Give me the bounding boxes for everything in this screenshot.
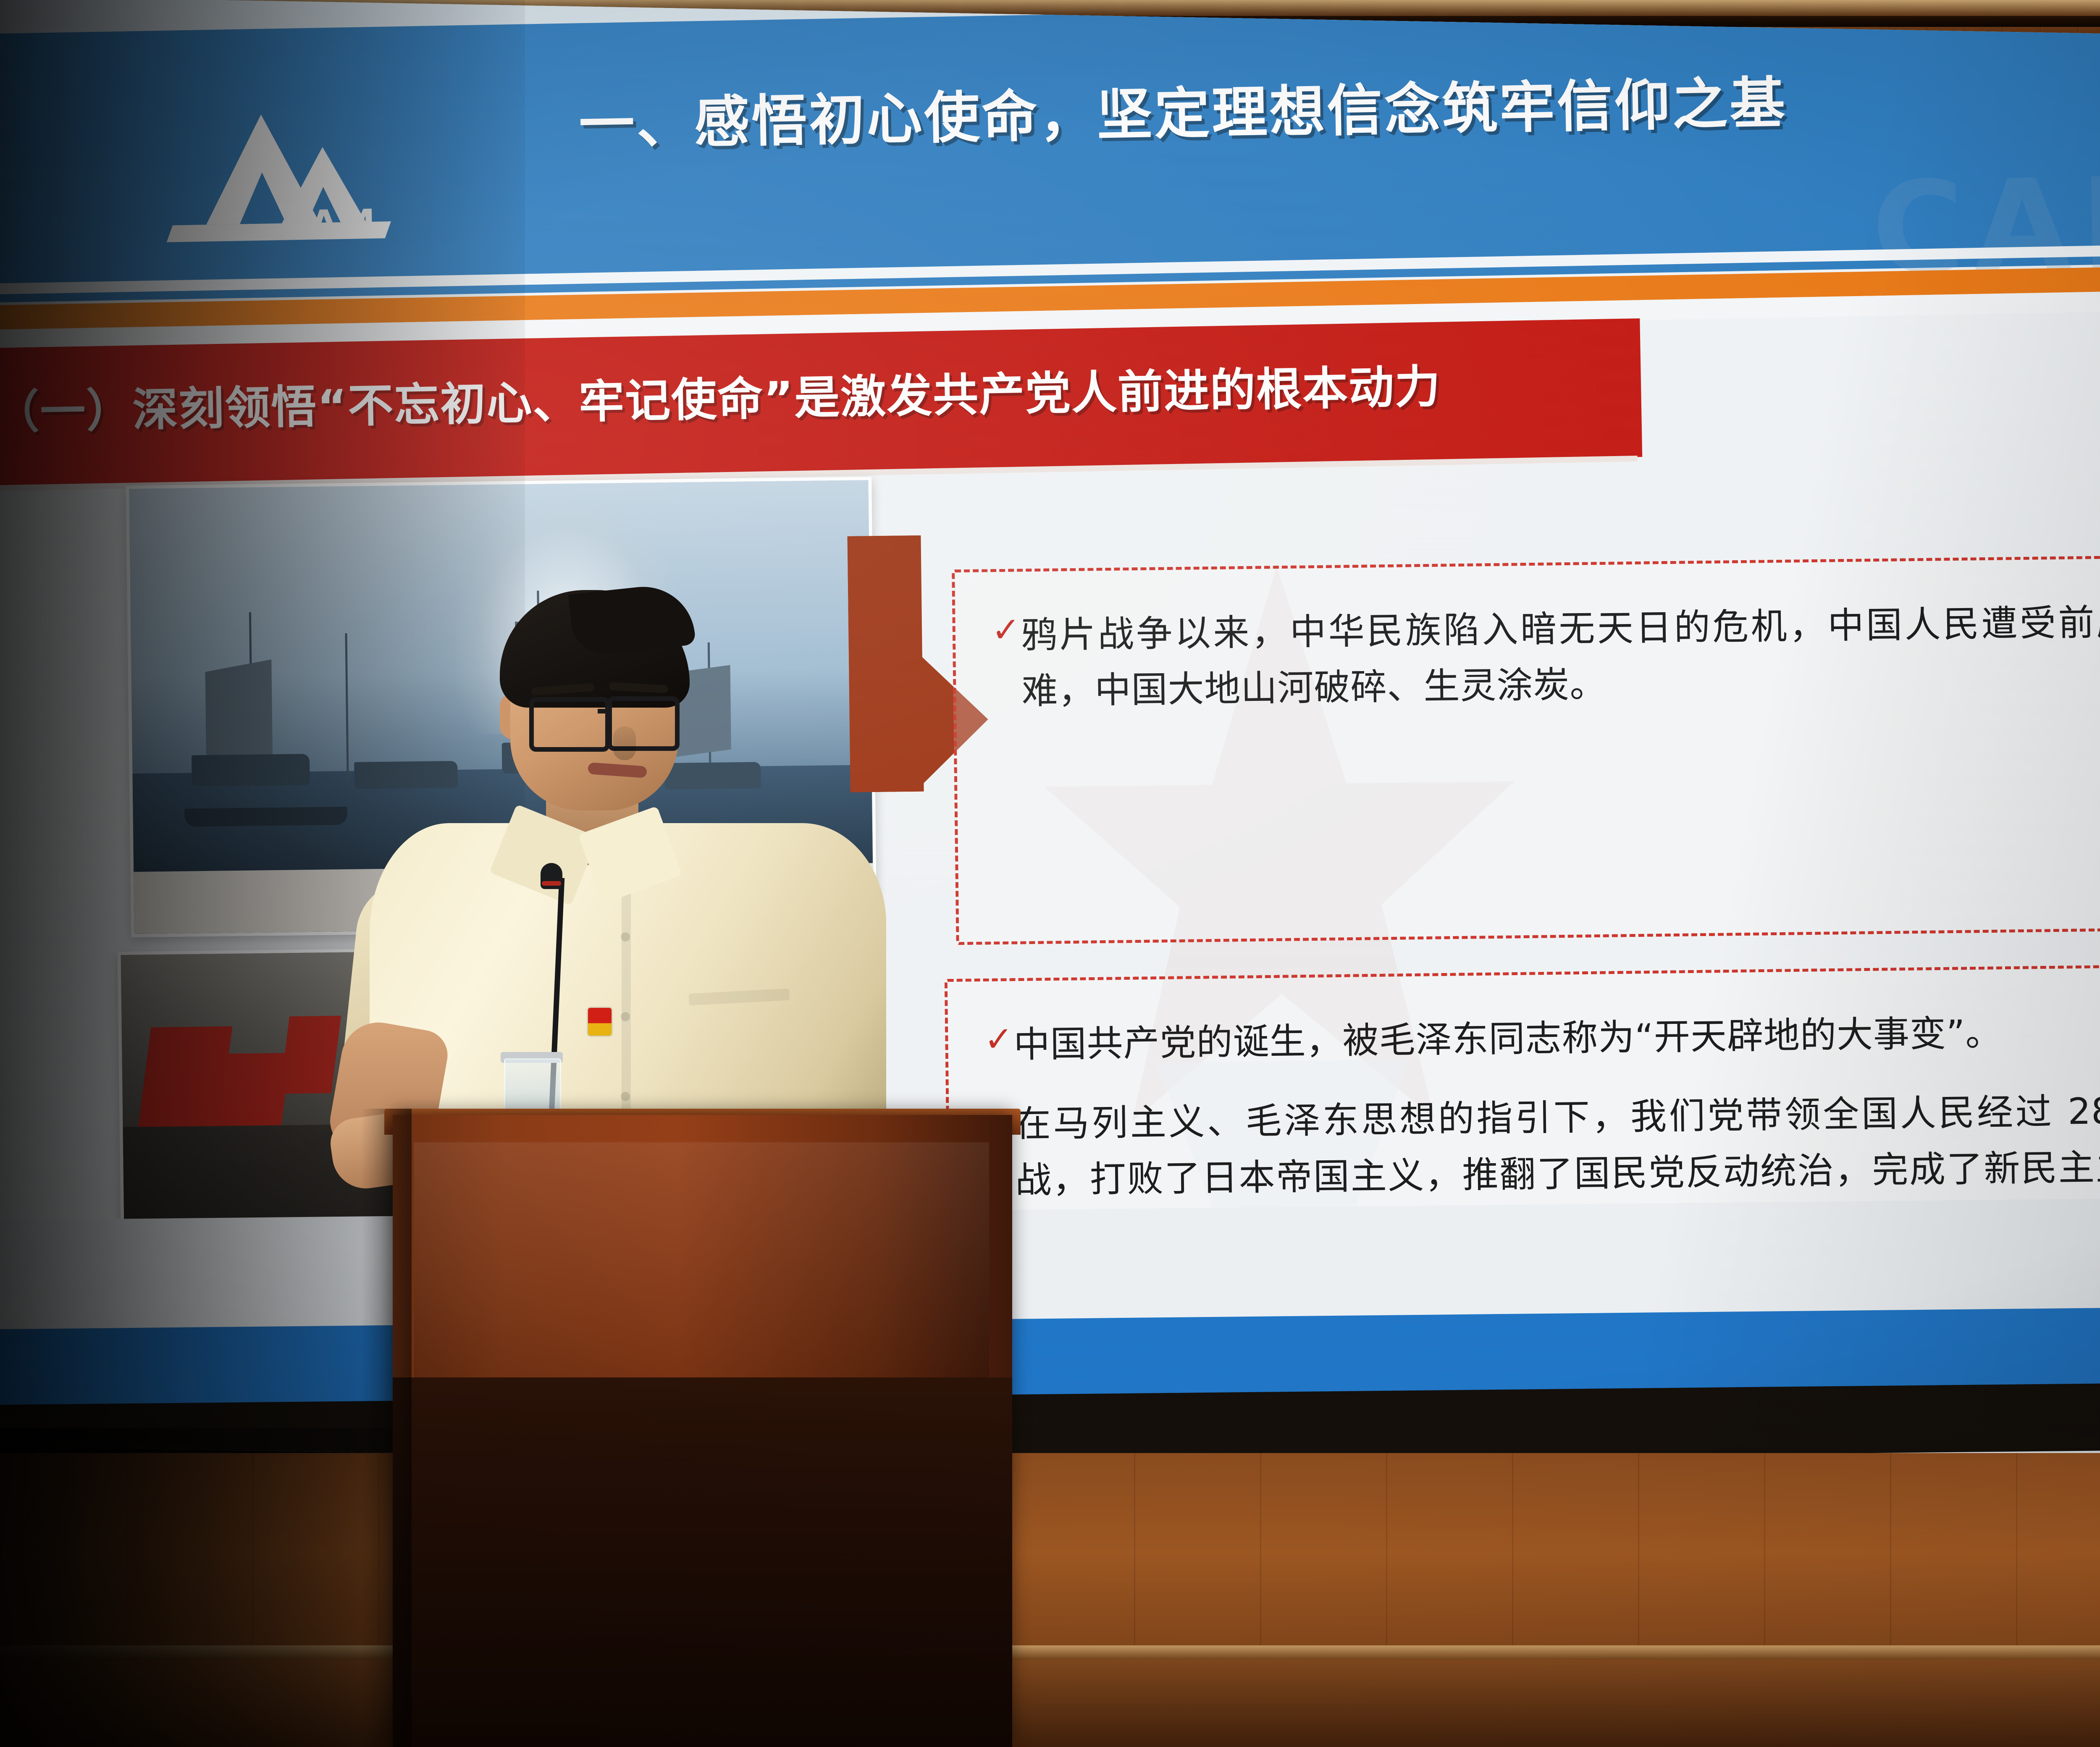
presentation-scene: CAM CAM 一、感悟初心使命，坚定理想信念筑牢信仰之基 （一）深刻 xyxy=(0,0,2100,1747)
scene-vignette xyxy=(0,0,2100,1747)
